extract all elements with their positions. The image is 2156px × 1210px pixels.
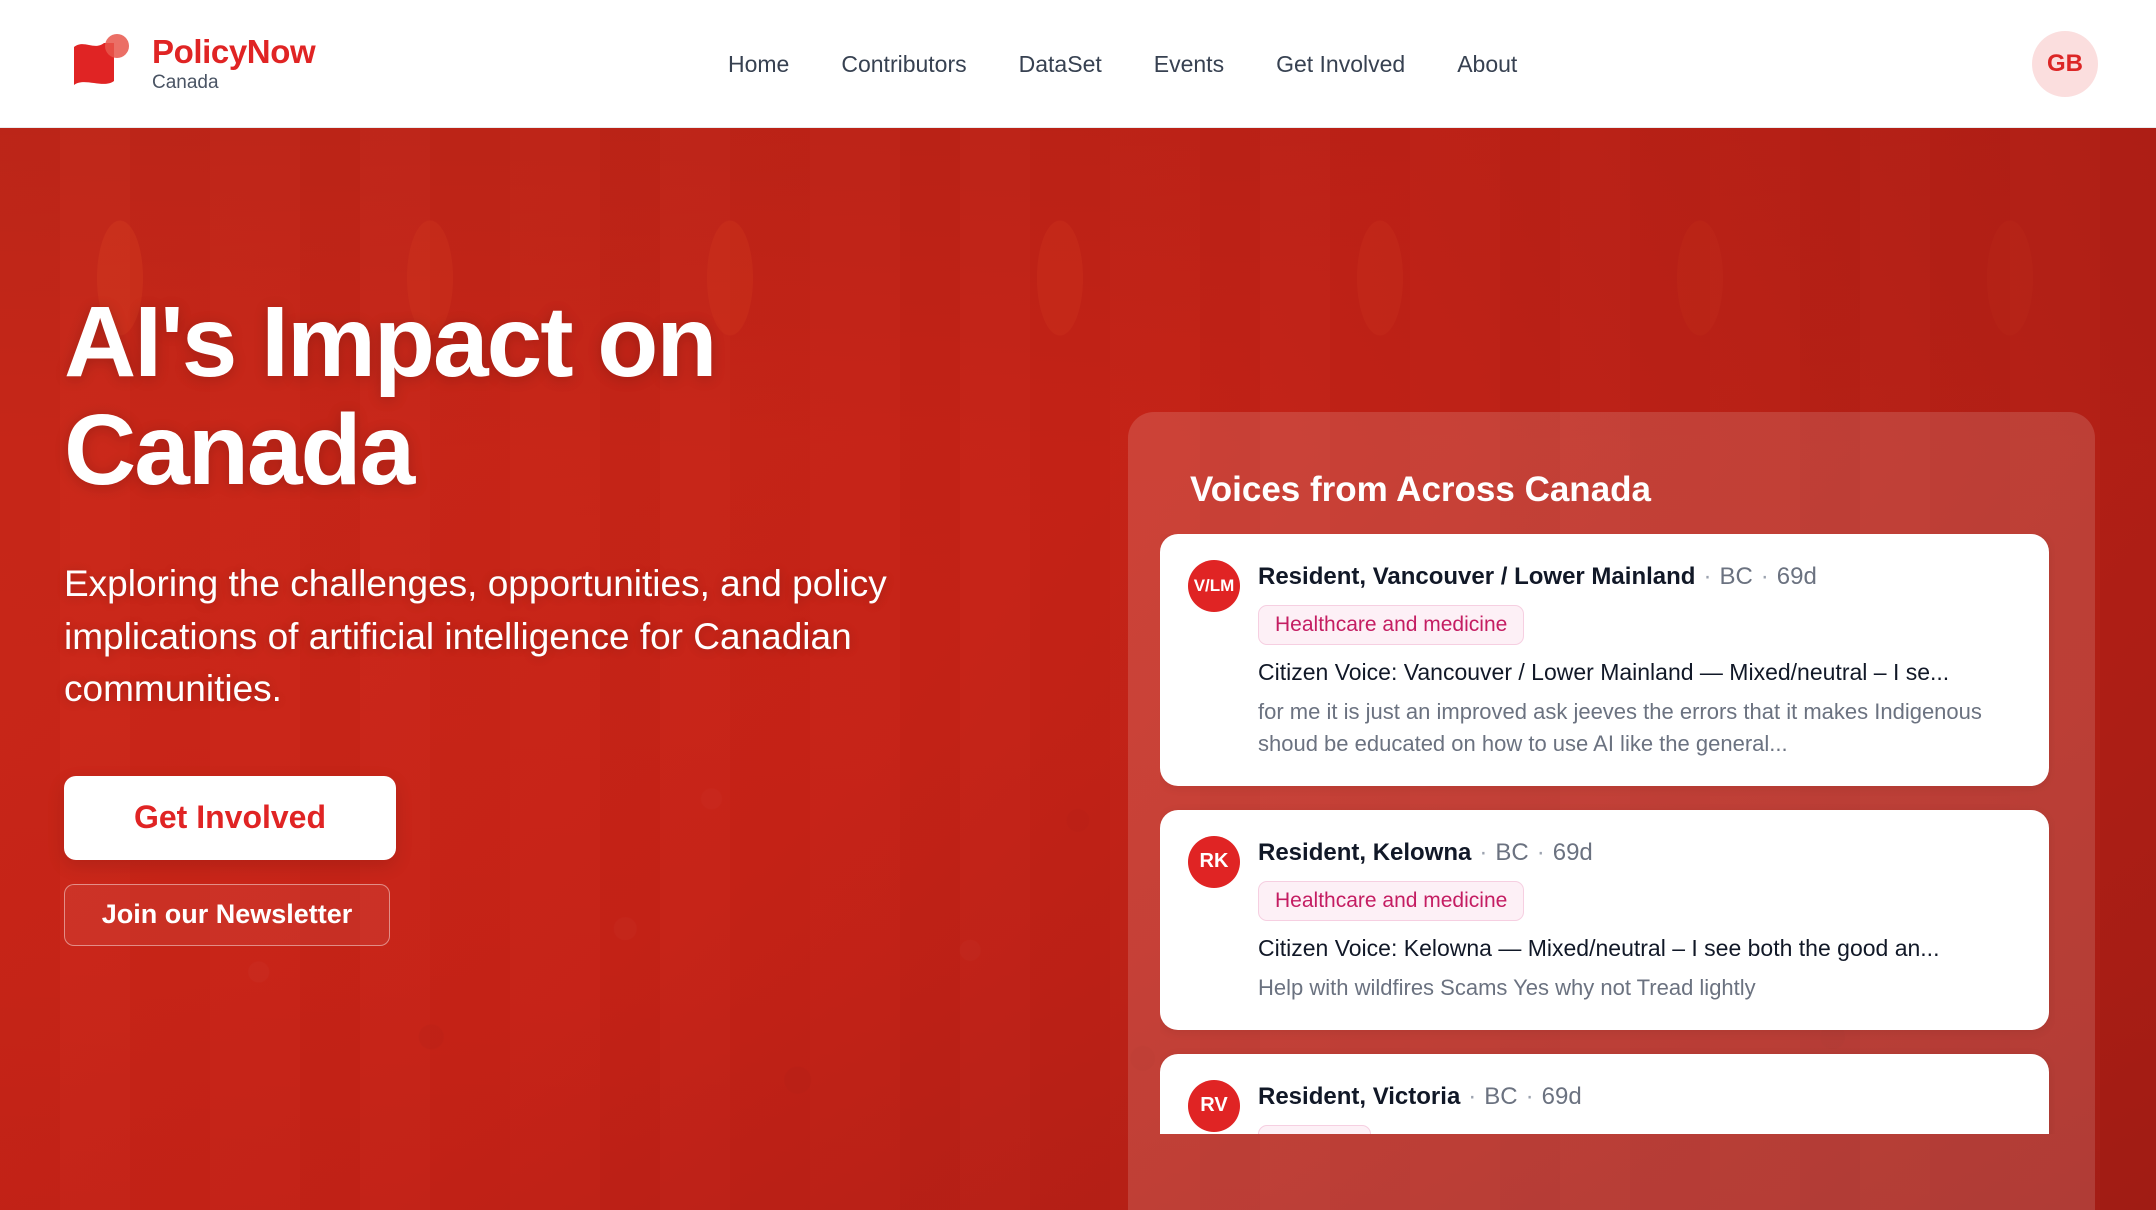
hero-title: AI's Impact on Canada [64, 288, 1084, 504]
brand-logo[interactable]: PolicyNow Canada [68, 33, 315, 95]
voice-topic-tag[interactable]: Healthcare and medicine [1258, 605, 1524, 645]
voice-card[interactable]: V/LM Resident, Vancouver / Lower Mainlan… [1160, 534, 2049, 786]
voice-excerpt: for me it is just an improved ask jeeves… [1258, 696, 2019, 760]
main-navigation: Home Contributors DataSet Events Get Inv… [702, 0, 1543, 128]
voice-region: BC [1484, 1083, 1517, 1110]
voice-separator-icon: · [1526, 1083, 1534, 1110]
voices-panel-title: Voices from Across Canada [1190, 470, 2055, 510]
voice-author: Resident, Vancouver / Lower Mainland [1258, 563, 1695, 590]
flag-book-icon [68, 33, 134, 95]
nav-item-events[interactable]: Events [1128, 41, 1250, 88]
brand-subtitle: Canada [152, 73, 315, 92]
hero-actions: Get Involved Join our Newsletter [64, 776, 1084, 946]
nav-item-dataset[interactable]: DataSet [993, 41, 1128, 88]
voice-avatar: RV [1188, 1080, 1240, 1132]
hero-section: AI's Impact on Canada Exploring the chal… [0, 128, 2156, 1210]
hero-copy: AI's Impact on Canada Exploring the chal… [64, 288, 1084, 946]
get-involved-button[interactable]: Get Involved [64, 776, 396, 860]
voice-meta: Resident, Victoria·BC·69d [1258, 1083, 2019, 1111]
voice-headline: Citizen Voice: Vancouver / Lower Mainlan… [1258, 659, 2019, 686]
voice-age: 69d [1553, 839, 1593, 866]
voices-scroll-container[interactable]: V/LM Resident, Vancouver / Lower Mainlan… [1160, 534, 2055, 1134]
nav-item-contributors[interactable]: Contributors [815, 41, 992, 88]
nav-item-get-involved[interactable]: Get Involved [1250, 41, 1431, 88]
voice-separator-icon: · [1703, 563, 1711, 590]
voice-topic-tag[interactable]: Healthcare and medicine [1258, 881, 1524, 921]
voice-card[interactable]: RV Resident, Victoria·BC·69d Not sure Ci… [1160, 1054, 2049, 1134]
user-avatar[interactable]: GB [2032, 31, 2098, 97]
voices-panel: Voices from Across Canada V/LM Resident,… [1128, 412, 2095, 1210]
voice-meta: Resident, Vancouver / Lower Mainland·BC·… [1258, 563, 2019, 591]
brand-title: PolicyNow [152, 35, 315, 68]
voice-separator-icon: · [1537, 839, 1545, 866]
nav-item-about[interactable]: About [1431, 41, 1543, 88]
voice-excerpt: Help with wildfires Scams Yes why not Tr… [1258, 972, 2019, 1004]
voice-avatar: V/LM [1188, 560, 1240, 612]
voice-separator-icon: · [1761, 563, 1769, 590]
voice-topic-tag[interactable]: Not sure [1258, 1125, 1371, 1134]
voice-meta: Resident, Kelowna·BC·69d [1258, 839, 2019, 867]
voice-headline: Citizen Voice: Kelowna — Mixed/neutral –… [1258, 935, 2019, 962]
voice-age: 69d [1777, 563, 1817, 590]
voice-separator-icon: · [1479, 839, 1487, 866]
voice-avatar: RK [1188, 836, 1240, 888]
voice-age: 69d [1542, 1083, 1582, 1110]
voice-region: BC [1719, 563, 1752, 590]
hero-subtitle: Exploring the challenges, opportunities,… [64, 558, 1004, 716]
join-newsletter-button[interactable]: Join our Newsletter [64, 884, 390, 946]
nav-item-home[interactable]: Home [702, 41, 815, 88]
voice-region: BC [1495, 839, 1528, 866]
voice-card[interactable]: RK Resident, Kelowna·BC·69d Healthcare a… [1160, 810, 2049, 1030]
site-header: PolicyNow Canada Home Contributors DataS… [0, 0, 2156, 128]
voice-separator-icon: · [1468, 1083, 1476, 1110]
voice-author: Resident, Victoria [1258, 1083, 1460, 1110]
voice-author: Resident, Kelowna [1258, 839, 1471, 866]
